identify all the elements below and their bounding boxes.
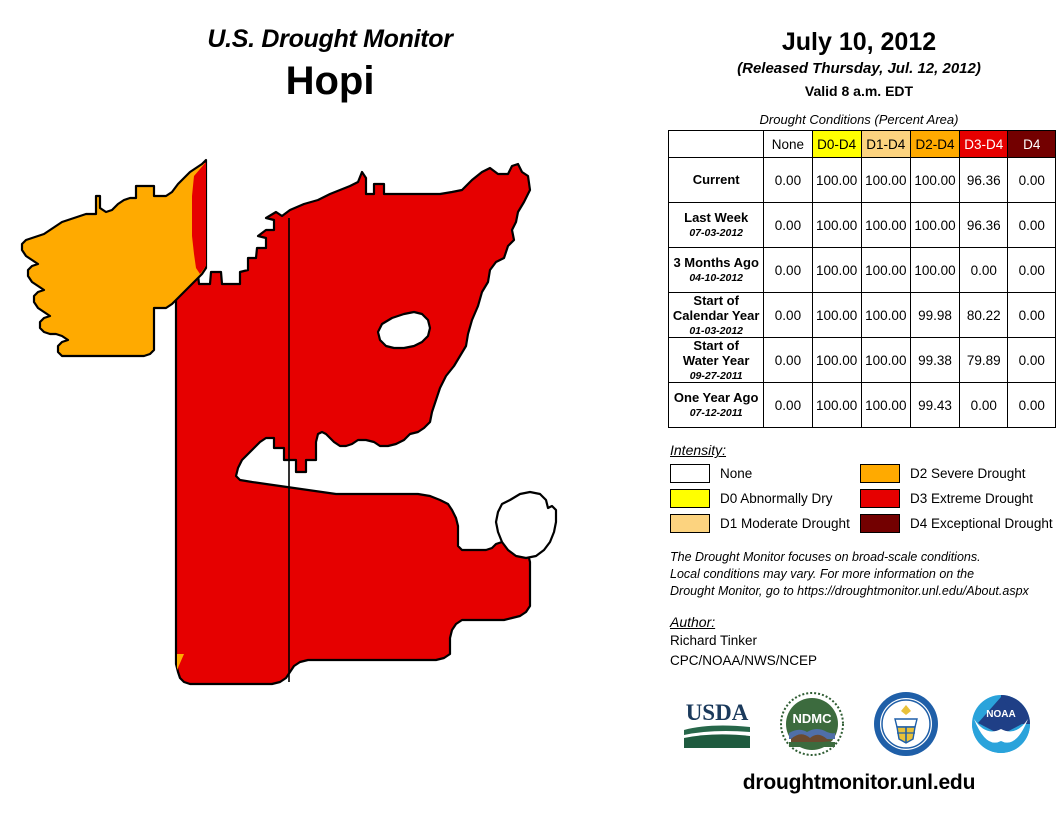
table-row: Last Week 07-03-2012 0.00 100.00 100.00 … xyxy=(669,203,1056,248)
drought-conditions-table: None D0-D4 D1-D4 D2-D4 D3-D4 D4 Current … xyxy=(668,130,1056,428)
cell-none: 0.00 xyxy=(764,383,812,428)
disclaimer-line-3: Drought Monitor, go to https://droughtmo… xyxy=(670,583,1056,600)
legend-swatch-d0 xyxy=(670,489,710,508)
col-header-d3: D3-D4 xyxy=(960,131,1008,158)
intensity-legend: Intensity: None D2 Severe Drought D0 Abn… xyxy=(670,442,1056,533)
release-date: (Released Thursday, Jul. 12, 2012) xyxy=(662,59,1056,79)
legend-swatch-d3 xyxy=(860,489,900,508)
row-label-current: Current xyxy=(669,158,764,203)
intensity-heading: Intensity: xyxy=(670,442,1056,458)
table-body: Current 0.00 100.00 100.00 100.00 96.36 … xyxy=(669,158,1056,428)
area-title: Hopi xyxy=(0,58,660,104)
legend-item-d3: D3 Extreme Drought xyxy=(860,489,1050,508)
col-header-d1: D1-D4 xyxy=(861,131,910,158)
cell-d0: 100.00 xyxy=(812,158,861,203)
table-header: None D0-D4 D1-D4 D2-D4 D3-D4 D4 xyxy=(669,131,1056,158)
noaa-logo: NOAA xyxy=(964,687,1038,761)
svg-text:USDA: USDA xyxy=(686,700,749,725)
legend-item-d0: D0 Abnormally Dry xyxy=(670,489,860,508)
disclaimer-text: The Drought Monitor focuses on broad-sca… xyxy=(670,549,1056,600)
cell-d3: 96.36 xyxy=(960,158,1008,203)
row-label-start-calendar-year: Start of Calendar Year 01-03-2012 xyxy=(669,293,764,338)
legend-label-d2: D2 Severe Drought xyxy=(910,466,1026,481)
legend-item-none: None xyxy=(670,464,860,483)
cell-d2: 100.00 xyxy=(910,158,959,203)
disclaimer-line-1: The Drought Monitor focuses on broad-sca… xyxy=(670,549,1056,566)
legend-label-d1: D1 Moderate Drought xyxy=(720,516,850,531)
cell-none: 0.00 xyxy=(764,338,812,383)
usda-logo: USDA xyxy=(680,687,754,761)
valid-date: July 10, 2012 xyxy=(662,28,1056,56)
row-label-one-year-ago: One Year Ago 07-12-2011 xyxy=(669,383,764,428)
cell-d4: 0.00 xyxy=(1008,203,1056,248)
legend-label-d3: D3 Extreme Drought xyxy=(910,491,1033,506)
program-title: U.S. Drought Monitor xyxy=(0,26,660,54)
legend-swatch-none xyxy=(670,464,710,483)
author-heading: Author: xyxy=(670,614,1056,630)
map-svg xyxy=(0,150,660,730)
cell-d1: 100.00 xyxy=(861,158,910,203)
disclaimer-line-2: Local conditions may vary. For more info… xyxy=(670,566,1056,583)
author-block: Author: Richard Tinker CPC/NOAA/NWS/NCEP xyxy=(670,614,1056,670)
cell-d3: 79.89 xyxy=(960,338,1008,383)
legend-item-d4: D4 Exceptional Drought xyxy=(860,514,1050,533)
website-url: droughtmonitor.unl.edu xyxy=(662,771,1056,795)
cell-d2: 99.38 xyxy=(910,338,959,383)
cell-none: 0.00 xyxy=(764,248,812,293)
col-header-none: None xyxy=(764,131,812,158)
row-label-last-week: Last Week 07-03-2012 xyxy=(669,203,764,248)
cell-d3: 0.00 xyxy=(960,248,1008,293)
drought-map xyxy=(0,150,660,730)
table-row: 3 Months Ago 04-10-2012 0.00 100.00 100.… xyxy=(669,248,1056,293)
noaa-logo-icon: NOAA xyxy=(966,689,1036,759)
cell-d1: 100.00 xyxy=(861,293,910,338)
cell-d4: 0.00 xyxy=(1008,293,1056,338)
info-panel: July 10, 2012 (Released Thursday, Jul. 1… xyxy=(662,0,1056,816)
cell-d0: 100.00 xyxy=(812,383,861,428)
author-name: Richard Tinker xyxy=(670,632,1056,650)
table-row: Current 0.00 100.00 100.00 100.00 96.36 … xyxy=(669,158,1056,203)
cell-d1: 100.00 xyxy=(861,383,910,428)
cell-none: 0.00 xyxy=(764,158,812,203)
cell-d2: 100.00 xyxy=(910,203,959,248)
row-label-3-months-ago: 3 Months Ago 04-10-2012 xyxy=(669,248,764,293)
cell-d1: 100.00 xyxy=(861,203,910,248)
legend-label-none: None xyxy=(720,466,752,481)
cell-d4: 0.00 xyxy=(1008,248,1056,293)
commerce-logo xyxy=(869,687,943,761)
ndmc-logo-icon: NDMC xyxy=(777,689,847,759)
cell-d4: 0.00 xyxy=(1008,158,1056,203)
legend-label-d0: D0 Abnormally Dry xyxy=(720,491,833,506)
cell-d1: 100.00 xyxy=(861,248,910,293)
cell-d3: 0.00 xyxy=(960,383,1008,428)
cell-d0: 100.00 xyxy=(812,248,861,293)
table-row: Start of Calendar Year 01-03-2012 0.00 1… xyxy=(669,293,1056,338)
legend-swatch-d4 xyxy=(860,514,900,533)
cell-d4: 0.00 xyxy=(1008,338,1056,383)
cell-d3: 96.36 xyxy=(960,203,1008,248)
legend-item-d1: D1 Moderate Drought xyxy=(670,514,860,533)
cell-d2: 100.00 xyxy=(910,248,959,293)
svg-text:NOAA: NOAA xyxy=(986,709,1015,720)
commerce-logo-icon xyxy=(871,689,941,759)
legend-swatch-d2 xyxy=(860,464,900,483)
cell-d4: 0.00 xyxy=(1008,383,1056,428)
table-corner-cell xyxy=(669,131,764,158)
cell-d2: 99.43 xyxy=(910,383,959,428)
region-hopi-main-reservation xyxy=(168,164,530,684)
ndmc-logo: NDMC xyxy=(775,687,849,761)
cell-d0: 100.00 xyxy=(812,203,861,248)
col-header-d4: D4 xyxy=(1008,131,1056,158)
cell-d1: 100.00 xyxy=(861,338,910,383)
table-row: Start of Water Year 09-27-2011 0.00 100.… xyxy=(669,338,1056,383)
table-row: One Year Ago 07-12-2011 0.00 100.00 100.… xyxy=(669,383,1056,428)
usda-logo-icon: USDA xyxy=(680,696,754,752)
legend-swatch-d1 xyxy=(670,514,710,533)
map-title-block: U.S. Drought Monitor Hopi xyxy=(0,26,660,104)
cell-d2: 99.98 xyxy=(910,293,959,338)
date-block: July 10, 2012 (Released Thursday, Jul. 1… xyxy=(662,0,1056,100)
cell-none: 0.00 xyxy=(764,203,812,248)
col-header-d0: D0-D4 xyxy=(812,131,861,158)
cell-d0: 100.00 xyxy=(812,338,861,383)
valid-time: Valid 8 a.m. EDT xyxy=(662,82,1056,100)
col-header-d2: D2-D4 xyxy=(910,131,959,158)
legend-label-d4: D4 Exceptional Drought xyxy=(910,516,1053,531)
legend-item-d2: D2 Severe Drought xyxy=(860,464,1050,483)
drought-monitor-page: U.S. Drought Monitor Hopi xyxy=(0,0,1056,816)
table-caption: Drought Conditions (Percent Area) xyxy=(662,112,1056,127)
cell-d0: 100.00 xyxy=(812,293,861,338)
author-affiliation: CPC/NOAA/NWS/NCEP xyxy=(670,652,1056,670)
logo-row: USDA NDMC xyxy=(662,687,1056,761)
row-label-start-water-year: Start of Water Year 09-27-2011 xyxy=(669,338,764,383)
svg-text:NDMC: NDMC xyxy=(792,711,832,726)
cell-d3: 80.22 xyxy=(960,293,1008,338)
cell-none: 0.00 xyxy=(764,293,812,338)
